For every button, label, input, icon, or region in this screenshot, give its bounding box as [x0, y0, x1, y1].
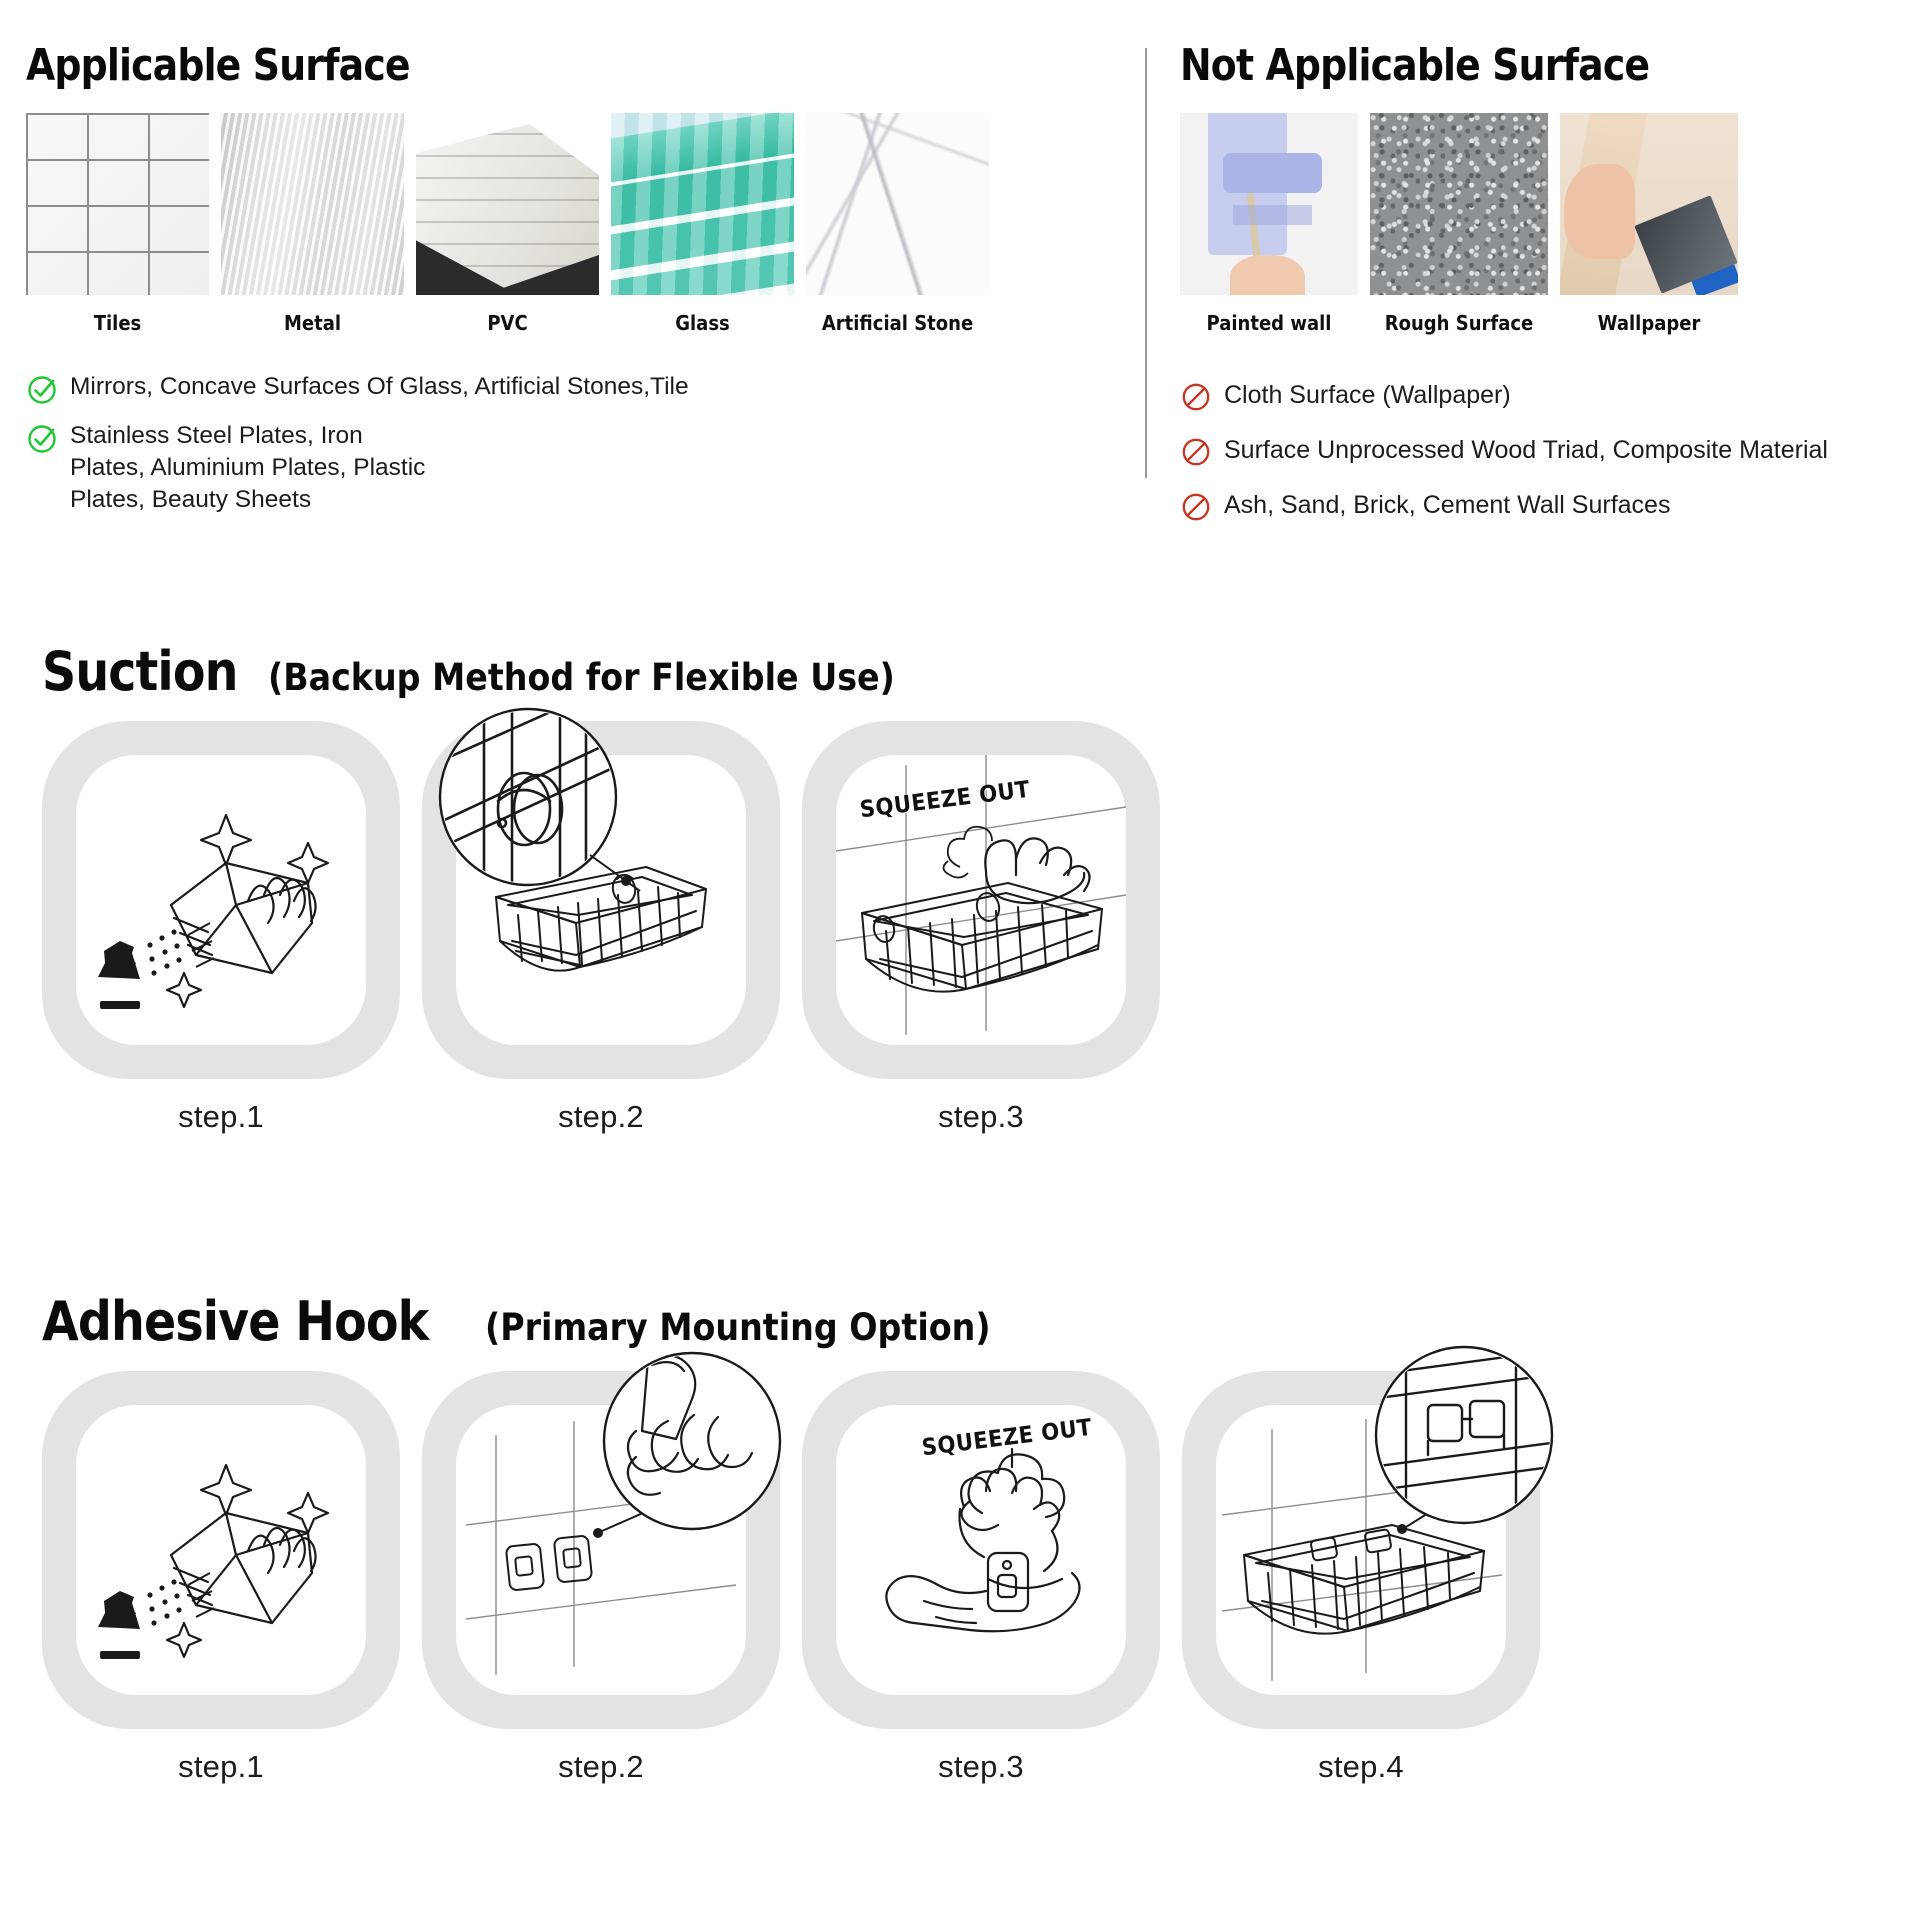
check-circle-icon — [26, 372, 60, 406]
suction-method-section: Suction (Backup Method for Flexible Use) — [0, 640, 1920, 1135]
tiles-image — [26, 113, 209, 295]
painted-wall-image — [1180, 113, 1358, 295]
step-label: step.2 — [422, 1749, 780, 1785]
swatch-label-artificial-stone: Artificial Stone — [815, 311, 980, 335]
metal-image — [221, 113, 404, 295]
step-card-inner: SQUEEZE OUT — [836, 1405, 1126, 1695]
step-card-inner: SQUEEZE OUT — [836, 755, 1126, 1045]
applicable-surface-title: Applicable Surface — [26, 40, 984, 91]
artificial-stone-image — [806, 113, 989, 295]
suction-step-2: step.2 — [422, 721, 780, 1135]
adhesive-title-main: Adhesive Hook — [42, 1290, 428, 1353]
peel-zoom-callout — [590, 1345, 794, 1549]
prohibition-icon — [1180, 490, 1214, 524]
suction-step-3: SQUEEZE OUT step.3 — [802, 721, 1160, 1135]
list-item-label: Surface Unprocessed Wood Triad, Composit… — [1224, 434, 1828, 466]
step-card: SQUEEZE OUT — [802, 721, 1160, 1079]
adhesive-step-4: step.4 — [1182, 1371, 1540, 1785]
hand-shape — [1564, 164, 1635, 259]
applicable-bullet-list: Mirrors, Concave Surfaces Of Glass, Arti… — [26, 371, 1140, 516]
list-item-label: Stainless Steel Plates, Iron Plates, Alu… — [70, 420, 425, 516]
hand-shape — [1230, 255, 1305, 295]
infographic-page: Applicable Surface Tiles Metal PVC Glass — [0, 0, 1920, 1920]
hook-zoom-callout — [1366, 1343, 1564, 1541]
step-card — [1182, 1371, 1540, 1729]
scraper-handle — [1681, 238, 1738, 295]
list-item: Cloth Surface (Wallpaper) — [1180, 379, 1920, 414]
list-item: Stainless Steel Plates, Iron Plates, Alu… — [26, 420, 1140, 516]
suction-title: Suction (Backup Method for Flexible Use) — [42, 640, 1920, 703]
swatch-label-metal: Metal — [230, 311, 395, 335]
swatch-label-tiles: Tiles — [35, 311, 200, 335]
step-label: step.4 — [1182, 1749, 1540, 1785]
swatch-label-rough-surface: Rough Surface — [1379, 311, 1539, 335]
adhesive-step-3: SQUEEZE OUT step.3 — [802, 1371, 1160, 1785]
step-card-inner — [76, 755, 366, 1045]
suction-step-1: step.1 — [42, 721, 400, 1135]
spray-wipe-illustration — [76, 1405, 366, 1695]
adhesive-steps: step.1 — [42, 1371, 1920, 1785]
adhesive-step-2: step.2 — [422, 1371, 780, 1785]
pvc-image — [416, 113, 599, 295]
suction-steps: step.1 — [42, 721, 1920, 1135]
list-item: Ash, Sand, Brick, Cement Wall Surfaces — [1180, 489, 1920, 524]
swatch-glass: Glass — [611, 113, 794, 335]
not-applicable-swatch-row: Painted wall Rough Surface Wallpaper — [1180, 113, 1920, 335]
suction-title-sub: (Backup Method for Flexible Use) — [268, 656, 895, 699]
spray-wipe-illustration — [76, 755, 366, 1045]
swatch-pvc: PVC — [416, 113, 599, 335]
step-label: step.3 — [802, 1749, 1160, 1785]
step-label: step.1 — [42, 1749, 400, 1785]
prohibition-icon — [1180, 380, 1214, 414]
swatch-tiles: Tiles — [26, 113, 209, 335]
adhesive-step-1: step.1 — [42, 1371, 400, 1785]
swatch-label-pvc: PVC — [425, 311, 590, 335]
step-label: step.3 — [802, 1099, 1160, 1135]
swatch-metal: Metal — [221, 113, 404, 335]
swatch-label-painted-wall: Painted wall — [1189, 311, 1349, 335]
suction-title-main: Suction — [42, 640, 238, 703]
swatch-label-wallpaper: Wallpaper — [1569, 311, 1729, 335]
step-card — [42, 1371, 400, 1729]
zoom-callout — [428, 705, 628, 905]
check-circle-icon — [26, 421, 60, 455]
surfaces-section: Applicable Surface Tiles Metal PVC Glass — [0, 0, 1920, 600]
wallpaper-image — [1560, 113, 1738, 295]
swatch-wallpaper: Wallpaper — [1560, 113, 1738, 335]
glass-image — [611, 113, 794, 295]
swatch-artificial-stone: Artificial Stone — [806, 113, 989, 335]
step-label: step.2 — [422, 1099, 780, 1135]
adhesive-method-section: Adhesive Hook (Primary Mounting Option) — [0, 1290, 1920, 1785]
list-item-label: Cloth Surface (Wallpaper) — [1224, 379, 1511, 411]
step-card — [42, 721, 400, 1079]
step-card-inner — [76, 1405, 366, 1695]
step-card — [422, 1371, 780, 1729]
swatch-rough-surface: Rough Surface — [1370, 113, 1548, 335]
swatch-label-glass: Glass — [620, 311, 785, 335]
not-applicable-surface-title: Not Applicable Surface — [1180, 40, 1816, 91]
applicable-surface-panel: Applicable Surface Tiles Metal PVC Glass — [0, 40, 1140, 600]
step-label: step.1 — [42, 1099, 400, 1135]
list-item: Surface Unprocessed Wood Triad, Composit… — [1180, 434, 1920, 469]
swatch-painted-wall: Painted wall — [1180, 113, 1358, 335]
not-applicable-surface-panel: Not Applicable Surface Painted wall Roug… — [1140, 40, 1920, 600]
adhesive-title: Adhesive Hook (Primary Mounting Option) — [42, 1290, 1920, 1353]
list-item-label: Mirrors, Concave Surfaces Of Glass, Arti… — [70, 371, 689, 403]
step-card: SQUEEZE OUT — [802, 1371, 1160, 1729]
not-applicable-bullet-list: Cloth Surface (Wallpaper) Surface Unproc… — [1180, 379, 1920, 524]
list-item: Mirrors, Concave Surfaces Of Glass, Arti… — [26, 371, 1140, 406]
adhesive-title-sub: (Primary Mounting Option) — [485, 1306, 991, 1349]
rough-surface-image — [1370, 113, 1548, 295]
prohibition-icon — [1180, 435, 1214, 469]
list-item-label: Ash, Sand, Brick, Cement Wall Surfaces — [1224, 489, 1670, 521]
applicable-swatch-row: Tiles Metal PVC Glass Artificial Stone — [26, 113, 1140, 335]
step-card — [422, 721, 780, 1079]
